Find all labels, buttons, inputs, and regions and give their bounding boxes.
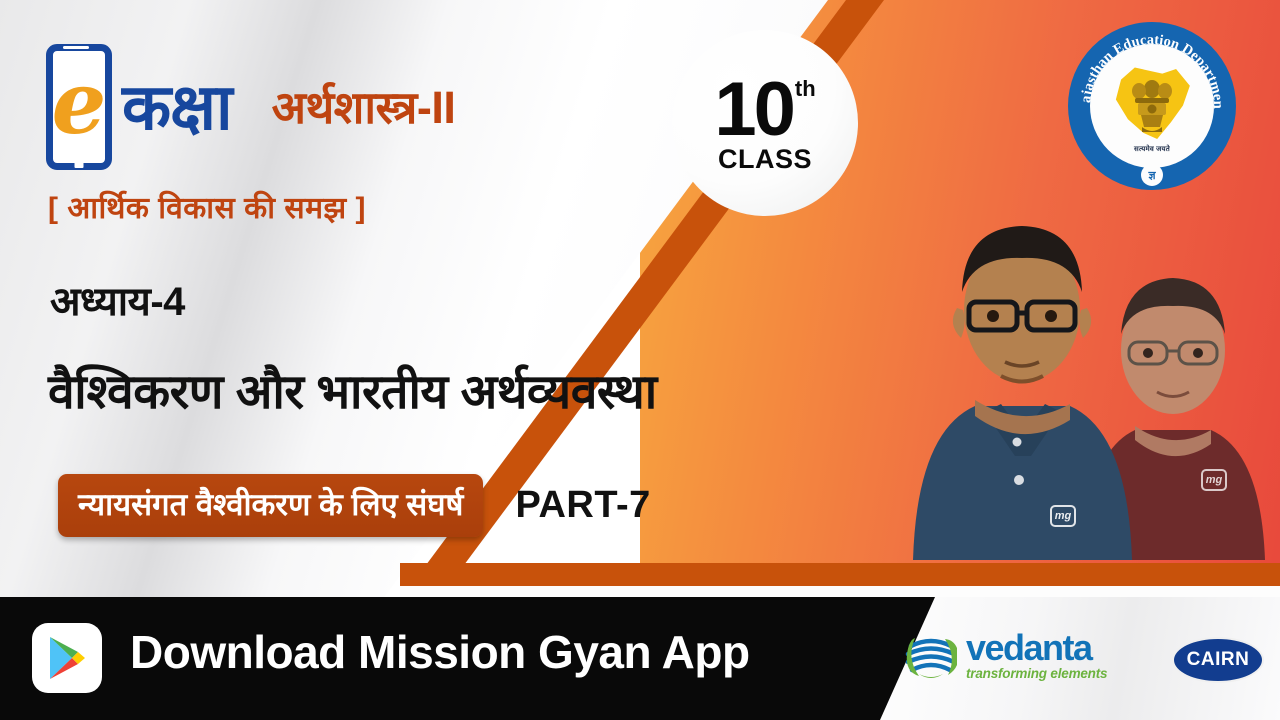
emblem-motto: सत्यमेव जयते xyxy=(1134,145,1170,154)
smartphone-icon: e xyxy=(46,44,112,170)
vedanta-tagline: transforming elements xyxy=(966,666,1107,681)
vedanta-name: vedanta xyxy=(966,631,1107,665)
rajasthan-education-department-emblem: Rajasthan Education Department सत्यमेव ज… xyxy=(1068,22,1236,190)
emblem-bottom-badge: ज्ञ xyxy=(1141,164,1163,186)
logo-wordmark: कक्षा xyxy=(122,75,232,139)
logo-letter-e: e xyxy=(52,61,107,147)
course-tagline: [ आर्थिक विकास की समझ ] xyxy=(48,186,366,227)
topic-pill: न्यायसंगत वैश्वीकरण के लिए संघर्ष xyxy=(58,474,483,537)
thumbnail-canvas: mg mg xyxy=(0,0,1280,720)
horizontal-accent-band xyxy=(400,563,1280,586)
part-label: PART-7 xyxy=(515,484,650,527)
instructor-primary-figure xyxy=(905,180,1140,560)
ekaksha-logo[interactable]: e कक्षा अर्थशास्त्र-II xyxy=(46,44,455,170)
google-play-triangle xyxy=(45,634,89,682)
class-number-row: 10 th xyxy=(714,72,815,148)
shirt-badge-mg: mg xyxy=(1201,469,1227,491)
cairn-name: CAIRN xyxy=(1187,649,1250,671)
chapter-title: वैश्विकरण और भारतीय अर्थव्यवस्था xyxy=(48,358,657,423)
ashoka-lion-capital-icon xyxy=(1129,77,1175,139)
vedanta-logo: vedanta transforming elements xyxy=(905,630,1107,682)
vedanta-wordmark-block: vedanta transforming elements xyxy=(966,631,1107,681)
emblem-inner-disc: सत्यमेव जयते xyxy=(1090,44,1214,168)
class-badge: 10 th CLASS xyxy=(672,30,858,216)
cairn-logo: CAIRN xyxy=(1172,637,1264,683)
chapter-number: अध्याय-4 xyxy=(50,272,185,327)
subject-title: अर्थशास्त्र-II xyxy=(272,85,456,130)
google-play-icon[interactable] xyxy=(32,623,102,693)
class-ordinal-suffix: th xyxy=(795,78,816,100)
topic-row: न्यायसंगत वैश्वीकरण के लिए संघर्ष PART-7 xyxy=(58,474,651,537)
class-number: 10 xyxy=(714,72,793,148)
shirt-badge-mg: mg xyxy=(1050,505,1076,527)
footer-cta-text: Download Mission Gyan App xyxy=(130,625,750,679)
class-word: CLASS xyxy=(718,144,812,175)
instructor-primary: mg xyxy=(905,180,1140,565)
vedanta-globe-icon xyxy=(905,630,957,682)
emblem-badge-glyph: ज्ञ xyxy=(1148,168,1155,183)
instructors-photo: mg mg xyxy=(895,180,1280,565)
